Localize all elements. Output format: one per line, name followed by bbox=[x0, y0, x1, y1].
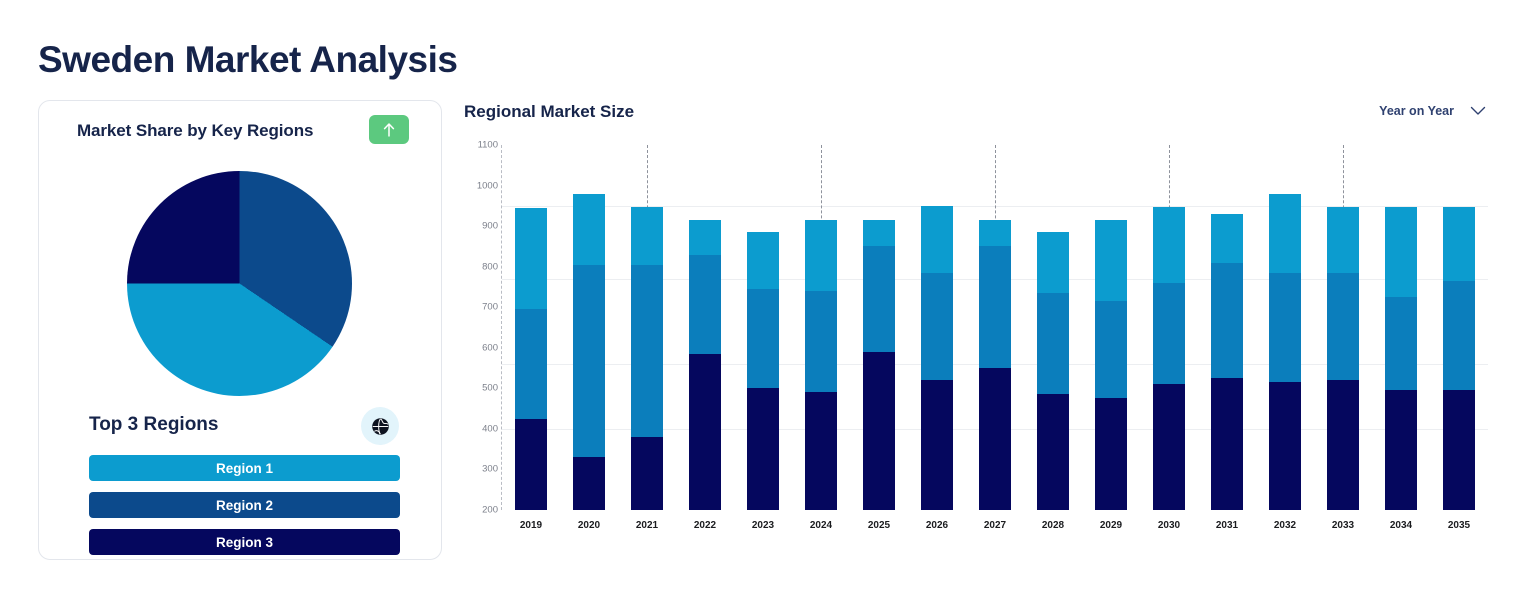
bar-segment bbox=[573, 194, 605, 265]
region-pill[interactable]: Region 3 bbox=[89, 529, 400, 555]
region-pill-label: Region 1 bbox=[216, 461, 273, 476]
market-share-card-header: Market Share by Key Regions bbox=[39, 115, 441, 151]
bar-column[interactable] bbox=[792, 145, 850, 510]
x-axis-tick-label: 2029 bbox=[1082, 520, 1140, 531]
bar-segment bbox=[573, 457, 605, 510]
bar-segment bbox=[979, 368, 1011, 510]
bar-segment bbox=[1269, 273, 1301, 383]
bar-stack bbox=[1443, 207, 1475, 510]
bar-segment bbox=[747, 232, 779, 289]
bar-segment bbox=[689, 354, 721, 510]
bar-stack bbox=[1095, 220, 1127, 510]
bar-segment bbox=[1153, 207, 1185, 283]
bar-segment bbox=[1385, 390, 1417, 510]
y-axis-tick-label: 900 bbox=[464, 221, 498, 232]
x-axis-tick-label: 2026 bbox=[908, 520, 966, 531]
year-on-year-dropdown[interactable]: Year on Year bbox=[1379, 104, 1486, 118]
bar-segment bbox=[921, 380, 953, 510]
bar-stack bbox=[1269, 194, 1301, 510]
bar-segment bbox=[1211, 378, 1243, 510]
x-axis-tick-label: 2028 bbox=[1024, 520, 1082, 531]
x-axis-tick-label: 2025 bbox=[850, 520, 908, 531]
bar-stack bbox=[805, 220, 837, 510]
bar-segment bbox=[863, 220, 895, 246]
bar-stack bbox=[1385, 207, 1417, 510]
bar-segment bbox=[1385, 297, 1417, 390]
y-axis-tick-label: 500 bbox=[464, 383, 498, 394]
bar-segment bbox=[1095, 398, 1127, 510]
chevron-down-icon bbox=[1470, 106, 1486, 116]
bar-column[interactable] bbox=[676, 145, 734, 510]
bar-column[interactable] bbox=[1256, 145, 1314, 510]
region-pill[interactable]: Region 2 bbox=[89, 492, 400, 518]
bar-segment bbox=[515, 309, 547, 419]
region-pill-label: Region 2 bbox=[216, 498, 273, 513]
bar-segment bbox=[805, 220, 837, 291]
region-pill-label: Region 3 bbox=[216, 535, 273, 550]
bar-column[interactable] bbox=[850, 145, 908, 510]
bar-segment bbox=[1095, 301, 1127, 398]
bar-column[interactable] bbox=[618, 145, 676, 510]
bar-segment bbox=[689, 220, 721, 254]
bar-column[interactable] bbox=[1430, 145, 1488, 510]
bar-segment bbox=[805, 291, 837, 392]
year-on-year-dropdown-label: Year on Year bbox=[1379, 104, 1454, 118]
bar-segment bbox=[1269, 382, 1301, 510]
y-axis-tick-label: 700 bbox=[464, 302, 498, 313]
bar-column[interactable] bbox=[908, 145, 966, 510]
x-axis-tick-label: 2035 bbox=[1430, 520, 1488, 531]
bar-stack bbox=[979, 220, 1011, 510]
bar-column[interactable] bbox=[560, 145, 618, 510]
bar-segment bbox=[979, 220, 1011, 246]
x-axis-tick-label: 2027 bbox=[966, 520, 1024, 531]
top-regions-header: Top 3 Regions bbox=[89, 406, 399, 446]
bar-segment bbox=[1269, 194, 1301, 273]
bar-segment bbox=[1327, 380, 1359, 510]
x-axis-tick-label: 2022 bbox=[676, 520, 734, 531]
bar-segment bbox=[631, 437, 663, 510]
bar-segment bbox=[1385, 207, 1417, 297]
bar-segment bbox=[863, 352, 895, 510]
bar-segment bbox=[1037, 232, 1069, 293]
bar-segment bbox=[1037, 293, 1069, 394]
bar-stack bbox=[1211, 214, 1243, 510]
bar-segment bbox=[573, 265, 605, 458]
x-axis-tick-label: 2021 bbox=[618, 520, 676, 531]
bar-segment bbox=[1327, 207, 1359, 273]
bar-column[interactable] bbox=[1082, 145, 1140, 510]
bar-column[interactable] bbox=[1024, 145, 1082, 510]
regional-market-size-panel: Regional Market Size Year on Year 110010… bbox=[464, 96, 1488, 560]
bar-segment bbox=[747, 289, 779, 388]
bar-columns bbox=[502, 145, 1488, 510]
trend-up-button[interactable] bbox=[369, 115, 409, 144]
bar-segment bbox=[805, 392, 837, 510]
bar-segment bbox=[1211, 263, 1243, 379]
bar-segment bbox=[1327, 273, 1359, 380]
y-axis-tick-label: 300 bbox=[464, 464, 498, 475]
bar-stack bbox=[1327, 207, 1359, 510]
bar-stack bbox=[1037, 232, 1069, 510]
bar-segment bbox=[631, 265, 663, 437]
bar-segment bbox=[747, 388, 779, 510]
x-axis-tick-label: 2031 bbox=[1198, 520, 1256, 531]
globe-badge[interactable] bbox=[361, 407, 399, 445]
bar-segment bbox=[921, 273, 953, 380]
bar-segment bbox=[515, 208, 547, 309]
y-axis-tick-label: 1100 bbox=[464, 140, 498, 151]
bar-stack bbox=[1153, 207, 1185, 510]
bar-column[interactable] bbox=[966, 145, 1024, 510]
top-regions-title: Top 3 Regions bbox=[89, 414, 218, 436]
bar-stack bbox=[631, 207, 663, 510]
y-axis-tick-label: 600 bbox=[464, 342, 498, 353]
bar-segment bbox=[689, 255, 721, 354]
bar-column[interactable] bbox=[1372, 145, 1430, 510]
x-axis-tick-label: 2033 bbox=[1314, 520, 1372, 531]
y-axis-labels: 11001000900800700600500400300200 bbox=[464, 145, 498, 510]
bar-segment bbox=[1211, 214, 1243, 263]
bar-column[interactable] bbox=[1140, 145, 1198, 510]
x-axis-tick-label: 2030 bbox=[1140, 520, 1198, 531]
x-axis-tick-label: 2019 bbox=[502, 520, 560, 531]
chart-title: Regional Market Size bbox=[464, 102, 634, 122]
bar-segment bbox=[631, 207, 663, 265]
x-axis-tick-label: 2020 bbox=[560, 520, 618, 531]
x-axis-labels: 2019202020212022202320242025202620272028… bbox=[502, 520, 1488, 531]
bar-stack bbox=[747, 232, 779, 510]
y-axis-tick-label: 400 bbox=[464, 423, 498, 434]
top-regions-list: Region 1Region 2Region 3 bbox=[89, 455, 400, 560]
bar-segment bbox=[1153, 283, 1185, 384]
bar-segment bbox=[979, 246, 1011, 368]
bar-column[interactable] bbox=[734, 145, 792, 510]
bar-segment bbox=[1037, 394, 1069, 510]
page-title: Sweden Market Analysis bbox=[38, 40, 457, 81]
bar-segment bbox=[1153, 384, 1185, 510]
x-axis-tick-label: 2023 bbox=[734, 520, 792, 531]
bar-segment bbox=[1443, 281, 1475, 391]
bar-column[interactable] bbox=[1198, 145, 1256, 510]
stacked-bar-chart: 11001000900800700600500400300200 2019202… bbox=[464, 145, 1488, 560]
bar-stack bbox=[863, 220, 895, 510]
x-axis-tick-label: 2032 bbox=[1256, 520, 1314, 531]
y-axis-tick-label: 200 bbox=[464, 505, 498, 516]
bar-segment bbox=[515, 419, 547, 510]
market-share-card-title: Market Share by Key Regions bbox=[77, 121, 313, 141]
bar-segment bbox=[921, 206, 953, 273]
market-share-card: Market Share by Key Regions Top 3 Region… bbox=[38, 100, 442, 560]
y-axis-tick-label: 800 bbox=[464, 261, 498, 272]
pie-slices bbox=[127, 171, 352, 396]
bar-stack bbox=[515, 208, 547, 510]
bar-stack bbox=[573, 194, 605, 510]
bar-stack bbox=[689, 220, 721, 510]
bar-column[interactable] bbox=[502, 145, 560, 510]
x-axis-tick-label: 2024 bbox=[792, 520, 850, 531]
arrow-up-icon bbox=[382, 122, 396, 138]
x-axis-tick-label: 2034 bbox=[1372, 520, 1430, 531]
bar-column[interactable] bbox=[1314, 145, 1372, 510]
bar-segment bbox=[863, 246, 895, 351]
bar-segment bbox=[1443, 207, 1475, 281]
y-axis-tick-label: 1000 bbox=[464, 180, 498, 191]
bar-segment bbox=[1095, 220, 1127, 301]
bar-segment bbox=[1443, 390, 1475, 510]
bar-stack bbox=[921, 206, 953, 510]
globe-icon bbox=[370, 416, 391, 437]
region-pill[interactable]: Region 1 bbox=[89, 455, 400, 481]
market-share-pie-chart bbox=[127, 171, 352, 396]
